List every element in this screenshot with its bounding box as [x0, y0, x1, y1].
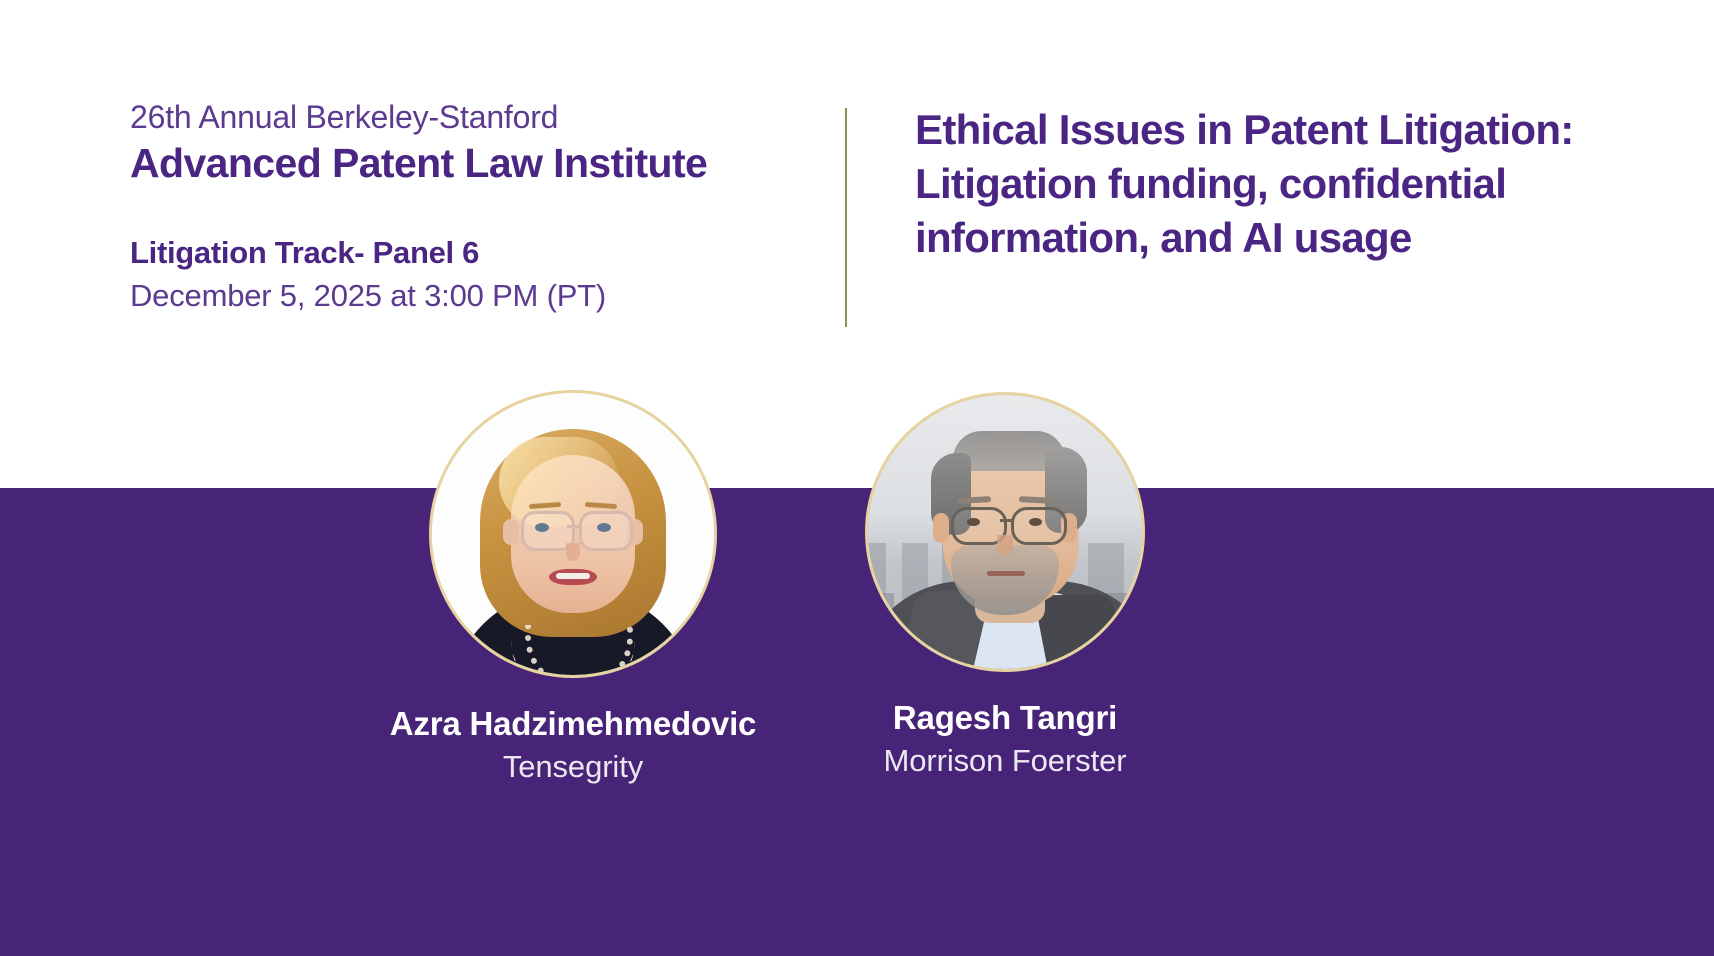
- portrait-glasses-bridge-2: [1000, 519, 1012, 522]
- speaker-organization-2: Morrison Foerster: [785, 742, 1225, 779]
- portrait-ear-left-2: [933, 513, 949, 543]
- portrait-ear-left-1: [503, 519, 519, 545]
- portrait-nose-2: [997, 535, 1013, 555]
- portrait-teeth-1: [556, 573, 590, 579]
- portrait-mouth-2: [987, 571, 1025, 576]
- speaker-photo-ragesh-tangri: [865, 392, 1145, 672]
- portrait-pearl-necklace-inner-1: [525, 625, 633, 675]
- speaker-organization-1: Tensegrity: [348, 748, 798, 785]
- avatar-image-2: [868, 395, 1142, 669]
- portrait-nose-1: [566, 543, 580, 561]
- speakers-section: Azra Hadzimehmedovic Tensegrity: [0, 0, 1714, 956]
- speaker-photo-azra-hadzimehmedovic: [429, 390, 717, 678]
- avatar-image-1: [432, 393, 714, 675]
- speaker-name-1: Azra Hadzimehmedovic: [348, 704, 798, 744]
- speaker-name-2: Ragesh Tangri: [785, 698, 1225, 738]
- portrait-glasses-right-2: [1011, 507, 1067, 545]
- portrait-glasses-right-1: [579, 511, 633, 551]
- presentation-slide: 26th Annual Berkeley-Stanford Advanced P…: [0, 0, 1714, 956]
- speaker-card-1: Azra Hadzimehmedovic Tensegrity: [348, 390, 798, 785]
- speaker-card-2: Ragesh Tangri Morrison Foerster: [785, 392, 1225, 779]
- portrait-glasses-bridge-1: [567, 525, 581, 528]
